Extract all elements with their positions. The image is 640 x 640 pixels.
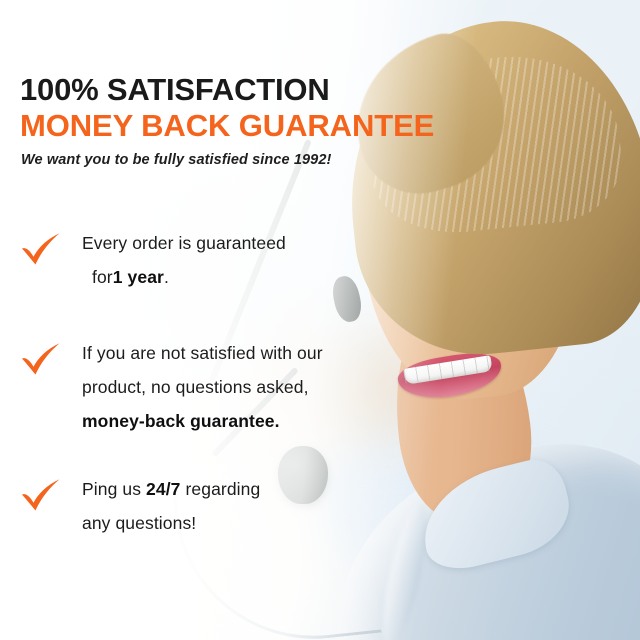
bullet-2-line-3-suffix: .	[275, 411, 280, 431]
bullet-3-line-2: any questions!	[82, 513, 196, 533]
bullet-1-text: Every order is guaranteed for 1 year.	[82, 226, 286, 294]
bullet-1-line-2-suffix: .	[164, 267, 169, 287]
headline-line-2: MONEY BACK GUARANTEE	[20, 110, 434, 141]
bullet-1-line-2-bold: 1 year	[113, 267, 164, 287]
list-item: If you are not satisfied with our produc…	[18, 336, 323, 438]
bullet-2-line-2: product, no questions asked,	[82, 377, 309, 397]
bullet-3-line-1-bold: 24/7	[146, 479, 180, 499]
orange-checkmark-icon	[18, 474, 64, 514]
bullet-2-text: If you are not satisfied with our produc…	[82, 336, 323, 438]
bullet-1-line-2-prefix: for	[82, 260, 113, 294]
orange-checkmark-icon	[18, 228, 64, 268]
bullet-2-line-3-bold: money-back guarantee	[82, 411, 275, 431]
bullet-3-line-1-suffix: regarding	[181, 479, 261, 499]
bullet-2-line-1: If you are not satisfied with our	[82, 343, 323, 363]
bullet-1-line-1: Every order is guaranteed	[82, 233, 286, 253]
guarantee-banner: 100% SATISFACTION MONEY BACK GUARANTEE W…	[0, 0, 640, 640]
orange-checkmark-icon	[18, 338, 64, 378]
subheadline: We want you to be fully satisfied since …	[21, 152, 331, 168]
headline-line-1: 100% SATISFACTION	[20, 74, 330, 105]
bullet-3-line-1-prefix: Ping us	[82, 479, 146, 499]
list-item: Every order is guaranteed for 1 year.	[18, 226, 286, 294]
list-item: Ping us 24/7 regarding any questions!	[18, 472, 260, 540]
bullet-3-text: Ping us 24/7 regarding any questions!	[82, 472, 260, 540]
banner-content: 100% SATISFACTION MONEY BACK GUARANTEE W…	[0, 0, 640, 640]
